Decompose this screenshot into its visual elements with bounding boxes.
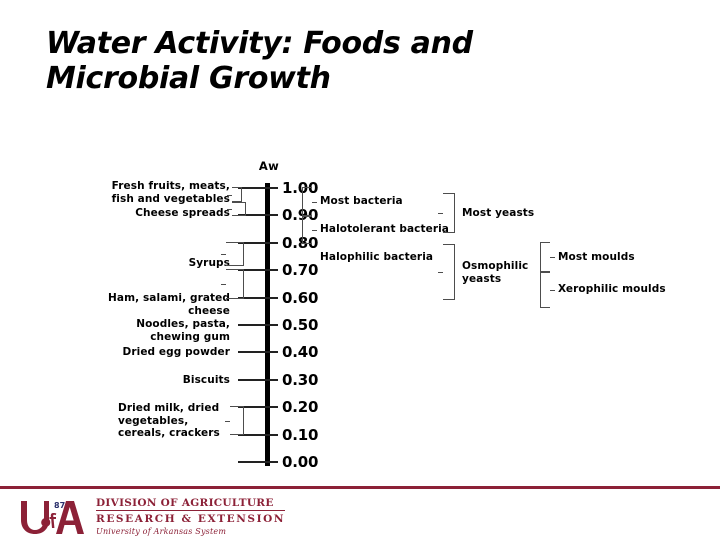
tick-label: 0.30 <box>282 371 318 389</box>
food-label-dried-egg-powder: Dried egg powder <box>100 346 230 359</box>
food-bracket-dried-milk <box>230 406 244 435</box>
bracket-nub <box>550 290 555 291</box>
food-label-ham-salami: Ham, salami, grated cheese <box>70 292 230 317</box>
logo-system-line: University of Arkansas System <box>96 526 285 537</box>
food-bracket-syrups <box>226 242 244 266</box>
microbe-bracket-osmophilic-yeasts <box>443 244 455 300</box>
logo-division-line: DIVISION OF AGRICULTURE <box>96 497 285 511</box>
tick-label: 0.70 <box>282 261 318 279</box>
microbe-bracket-xerophilic-moulds <box>540 272 550 308</box>
tick-mark <box>238 187 278 189</box>
microbe-label-most-yeasts: Most yeasts <box>462 207 582 220</box>
microbe-bracket-halotolerant <box>302 216 312 244</box>
microbe-bracket-most-bacteria <box>302 187 312 216</box>
tick-label: 1.00 <box>282 179 318 197</box>
tick-mark <box>238 297 278 299</box>
bracket-nub <box>227 195 232 196</box>
bracket-nub <box>312 230 317 231</box>
food-label-dried-milk: Dried milk, dried vegetables, cereals, c… <box>118 402 236 440</box>
food-label-cheese-spreads: Cheese spreads <box>110 207 230 220</box>
food-label-fresh-fruits: Fresh fruits, meats, fish and vegetables <box>100 180 230 205</box>
tick-label: 0.90 <box>282 206 318 224</box>
microbe-bracket-most-moulds <box>540 242 550 272</box>
tick-mark <box>238 379 278 381</box>
food-label-noodles-pasta: Noodles, pasta, chewing gum <box>110 318 230 343</box>
uofa-logo-text: DIVISION OF AGRICULTURE RESEARCH & EXTEN… <box>96 497 285 537</box>
tick-label: 0.00 <box>282 453 318 471</box>
microbe-label-halophilic-bacteria: Halophilic bacteria <box>320 251 480 264</box>
food-bracket-ham-salami <box>226 269 244 299</box>
bracket-nub <box>550 257 555 258</box>
food-bracket-fresh-fruits <box>232 187 242 202</box>
tick-mark <box>238 351 278 353</box>
microbe-label-xerophilic-moulds: Xerophilic moulds <box>558 283 708 296</box>
bracket-nub <box>225 421 230 422</box>
tick-mark <box>238 324 278 326</box>
tick-mark <box>238 242 278 244</box>
uofa-monogram-icon: 87 <box>18 498 92 536</box>
bracket-nub <box>438 272 443 273</box>
page-title-line-1: Water Activity: Foods and <box>46 26 666 61</box>
footer: 87 DIVISION OF AGRICULTURE RESEARCH & EX… <box>0 489 720 540</box>
bracket-nub <box>312 202 317 203</box>
food-label-biscuits: Biscuits <box>140 374 230 387</box>
bracket-nub <box>221 284 226 285</box>
bracket-nub <box>438 213 443 214</box>
bracket-nub <box>227 209 232 210</box>
tick-label: 0.20 <box>282 398 318 416</box>
tick-mark <box>238 269 278 271</box>
tick-label: 0.80 <box>282 234 318 252</box>
microbe-label-halotolerant-bacteria: Halotolerant bacteria <box>320 223 480 236</box>
microbe-label-most-moulds: Most moulds <box>558 251 688 264</box>
tick-label: 0.60 <box>282 289 318 307</box>
tick-mark <box>238 406 278 408</box>
tick-label: 0.10 <box>282 426 318 444</box>
food-bracket-cheese-spreads <box>232 202 246 216</box>
water-activity-diagram: Aw 1.00 0.90 0.80 0.70 0.60 0.50 0.40 0.… <box>0 150 720 480</box>
page-title-line-2: Microbial Growth <box>46 61 666 96</box>
page-number: 87 <box>54 501 65 510</box>
tick-mark <box>238 434 278 436</box>
microbe-bracket-most-yeasts <box>443 193 455 233</box>
microbe-label-osmophilic-yeasts: Osmophilic yeasts <box>462 260 552 285</box>
axis-title-aw: Aw <box>248 159 290 173</box>
page-title: Water Activity: Foods and Microbial Grow… <box>46 26 666 96</box>
bracket-nub <box>221 254 226 255</box>
tick-label: 0.50 <box>282 316 318 334</box>
food-label-syrups: Syrups <box>130 257 230 270</box>
tick-label: 0.40 <box>282 343 318 361</box>
logo-unit-line: RESEARCH & EXTENSION <box>96 511 285 526</box>
uofa-logo: 87 DIVISION OF AGRICULTURE RESEARCH & EX… <box>18 497 285 537</box>
tick-mark <box>238 461 278 463</box>
